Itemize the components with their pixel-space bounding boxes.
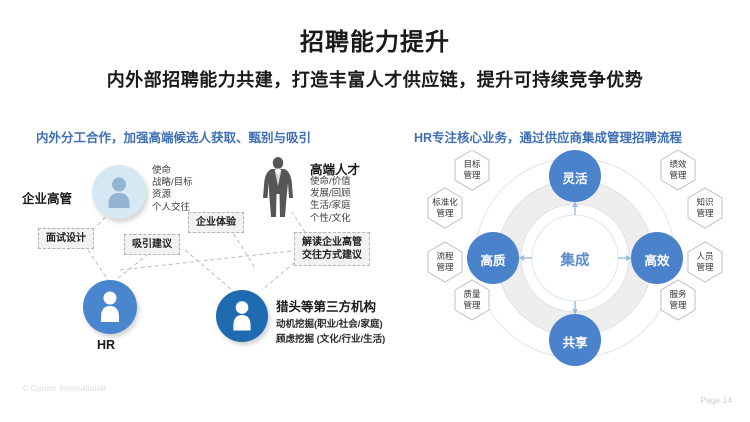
hex-line: 绩效	[655, 159, 701, 170]
page-title: 招聘能力提升	[0, 22, 750, 57]
node-headhunting-agency-label: 猎头等第三方机构	[276, 296, 376, 315]
tag-attraction-advice[interactable]: 吸引建议	[124, 234, 180, 255]
right-diagram: 集成 灵活 高质 高效 共享 目标 管理 标准化 管理 流程 管理 质量 管理 …	[410, 150, 750, 375]
hex-label-personnel-management[interactable]: 人员 管理	[682, 251, 728, 272]
person-avatar-icon	[83, 280, 137, 334]
detail-line: 发展/回顾	[310, 188, 351, 200]
hex-line: 服务	[655, 289, 701, 300]
hex-line: 管理	[655, 170, 701, 181]
tag-line: 解读企业高管	[302, 236, 362, 249]
hex-line: 知识	[682, 197, 728, 208]
tag-line: 交往方式建议	[302, 249, 362, 262]
node-enterprise-executive-label: 企业高管	[22, 188, 72, 207]
pillar-label-flexible[interactable]: 灵活	[549, 168, 601, 187]
detail-line: 顾虑挖掘 (文化/行业/生活)	[276, 332, 385, 347]
radial-core-label: 集成	[540, 249, 610, 270]
node-hr-label: HR	[97, 338, 115, 352]
pillar-label-shared[interactable]: 共享	[549, 332, 601, 351]
node-high-end-talent-details: 使命/价值 发展/回顾 生活/家庭 个性/文化	[310, 176, 351, 225]
hex-line: 目标	[449, 159, 495, 170]
node-headhunting-agency-details: 动机挖掘(职业/社会/家庭) 顾虑挖掘 (文化/行业/生活)	[276, 317, 385, 347]
hex-label-quality-management[interactable]: 质量 管理	[449, 289, 495, 310]
page-number: Page 14	[700, 395, 732, 405]
pillar-label-efficient[interactable]: 高效	[631, 250, 683, 269]
hex-label-performance-management[interactable]: 绩效 管理	[655, 159, 701, 180]
hex-line: 管理	[422, 262, 468, 273]
hex-line: 管理	[682, 208, 728, 219]
left-diagram: 企业高管 使命 战略/目标 资源 个人交往	[0, 150, 410, 375]
detail-line: 使命/价值	[310, 176, 351, 188]
copyright-text: © Career International	[22, 383, 106, 393]
hex-line: 管理	[422, 208, 468, 219]
pillar-label-quality[interactable]: 高质	[467, 250, 519, 269]
node-enterprise-executive-details: 使命 战略/目标 资源 个人交往	[152, 165, 193, 214]
hex-label-knowledge-management[interactable]: 知识 管理	[682, 197, 728, 218]
tag-company-experience[interactable]: 企业体验	[188, 212, 244, 233]
hex-line: 管理	[682, 262, 728, 273]
hex-label-service-management[interactable]: 服务 管理	[655, 289, 701, 310]
detail-line: 个人交往	[152, 202, 193, 214]
detail-line: 动机挖掘(职业/社会/家庭)	[276, 317, 385, 332]
hex-label-process-management[interactable]: 流程 管理	[422, 251, 468, 272]
right-section-heading: HR专注核心业务，通过供应商集成管理招聘流程	[414, 127, 682, 146]
detail-line: 战略/目标	[152, 177, 193, 189]
left-section-heading: 内外分工合作，加强高端候选人获取、甄别与吸引	[36, 127, 311, 146]
tag-exec-interaction-advice[interactable]: 解读企业高管 交往方式建议	[294, 232, 370, 266]
hex-line: 管理	[449, 170, 495, 181]
person-avatar-icon	[92, 165, 146, 219]
detail-line: 个性/文化	[310, 213, 351, 225]
hex-label-standard-management[interactable]: 标准化 管理	[422, 197, 468, 218]
hex-line: 人员	[682, 251, 728, 262]
detail-line: 资源	[152, 189, 193, 201]
hex-line: 质量	[449, 289, 495, 300]
page-subtitle: 内外部招聘能力共建，打造丰富人才供应链，提升可持续竞争优势	[0, 66, 750, 92]
person-avatar-icon	[216, 290, 268, 342]
detail-line: 生活/家庭	[310, 200, 351, 212]
businessman-silhouette-icon	[258, 156, 300, 218]
hex-line: 管理	[655, 300, 701, 311]
detail-line: 使命	[152, 165, 193, 177]
hex-line: 管理	[449, 300, 495, 311]
hex-line: 流程	[422, 251, 468, 262]
hex-line: 标准化	[422, 197, 468, 208]
hex-label-goal-management[interactable]: 目标 管理	[449, 159, 495, 180]
slide-canvas: 招聘能力提升 内外部招聘能力共建，打造丰富人才供应链，提升可持续竞争优势 内外分…	[0, 0, 750, 422]
tag-interview-design[interactable]: 面试设计	[38, 228, 94, 249]
